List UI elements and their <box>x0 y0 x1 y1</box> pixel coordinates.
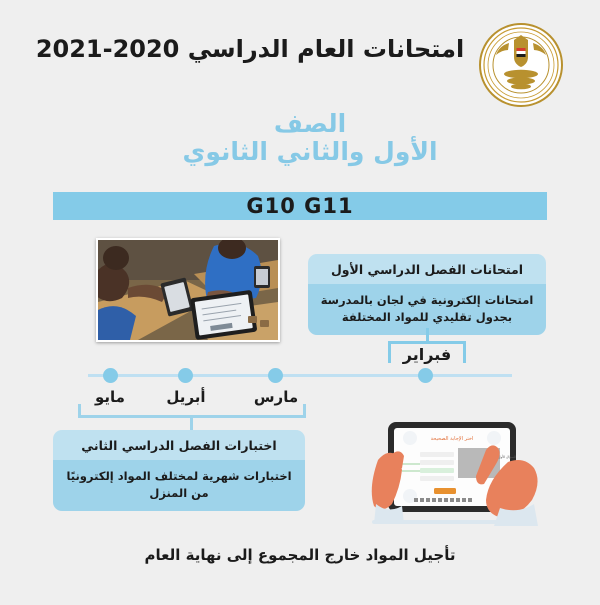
first-term-connector-stem <box>426 328 429 342</box>
timeline-dot-april <box>178 368 193 383</box>
grade-band-label: G10 G11 <box>246 194 353 218</box>
subtitle-line-1: الصف <box>100 110 520 138</box>
timeline-dot-may <box>103 368 118 383</box>
second-term-card-body: اختبارات شهرية لمختلف المواد إلكترونيًا … <box>53 460 305 511</box>
month-label-february: فبراير <box>386 345 468 364</box>
footer-note: تأجيل المواد خارج المجموع إلى نهاية العا… <box>20 546 580 564</box>
ministry-of-education-seal-icon: seal <box>478 22 564 108</box>
svg-text:السؤال الأول: السؤال الأول <box>498 454 516 459</box>
page-title: امتحانات العام الدراسي 2020-2021 <box>30 36 470 64</box>
second-term-card-title: اختبارات الفصل الدراسي الثاني <box>53 430 305 460</box>
first-term-card-title: امتحانات الفصل الدراسي الأول <box>308 254 546 284</box>
timeline-dot-february <box>418 368 433 383</box>
timeline-dot-march <box>268 368 283 383</box>
classroom-photo <box>96 238 280 342</box>
tablet-exam-illustration: اختر الإجابة الصحيحة السؤال الأول <box>358 408 548 530</box>
first-term-card: امتحانات الفصل الدراسي الأول امتحانات إل… <box>308 254 546 335</box>
svg-text:اختر الإجابة الصحيحة: اختر الإجابة الصحيحة <box>431 436 474 442</box>
second-term-card: اختبارات الفصل الدراسي الثاني اختبارات ش… <box>53 430 305 511</box>
second-term-bracket <box>78 404 306 418</box>
timeline-axis <box>88 374 512 377</box>
infographic-canvas: امتحانات العام الدراسي 2020-2021 <box>0 0 600 605</box>
second-term-connector-stem <box>190 417 193 431</box>
grade-subtitle: الصف الأول والثاني الثانوي <box>100 110 520 166</box>
grade-band: G10 G11 <box>53 192 547 220</box>
subtitle-line-2: الأول والثاني الثانوي <box>100 138 520 166</box>
